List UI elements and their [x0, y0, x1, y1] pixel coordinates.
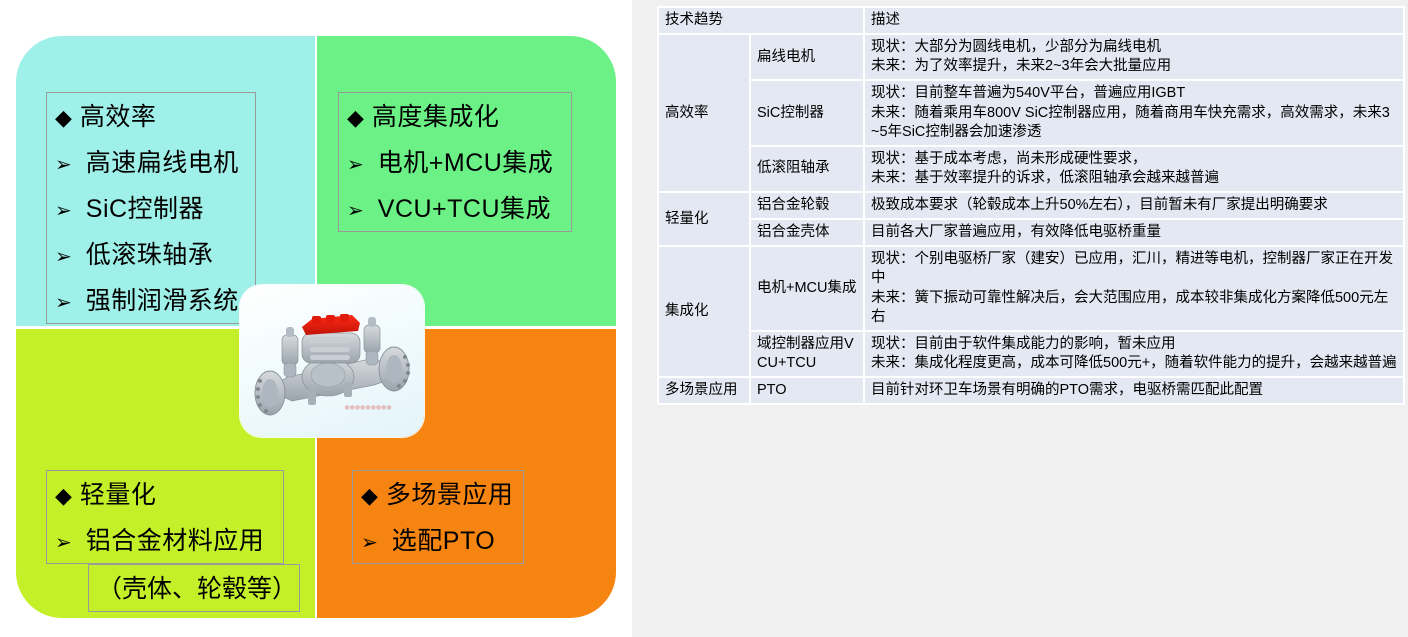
table-row: SiC控制器 现状：目前整车普遍为540V平台，普遍应用IGBT 未来：随着乘用…	[659, 81, 1403, 144]
list-item: ➢ 选配PTO	[361, 521, 515, 557]
subcategory-cell: 电机+MCU集成	[751, 247, 863, 330]
arrow-bullet-icon: ➢	[55, 292, 72, 312]
arrow-bullet-icon: ➢	[55, 246, 72, 266]
description-cell: 现状：目前整车普遍为540V平台，普遍应用IGBT 未来：随着乘用车800V S…	[865, 81, 1403, 144]
table-row: 多场景应用 PTO 目前针对环卫车场景有明确的PTO需求，电驱桥需匹配此配置	[659, 378, 1403, 403]
table-row: 集成化 电机+MCU集成 现状：个别电驱桥厂家（建安）已应用，汇川，精进等电机，…	[659, 247, 1403, 330]
list-item-label: 选配PTO	[392, 521, 495, 557]
list-item: ➢ 铝合金材料应用	[55, 521, 275, 557]
list-item-label: 低滚珠轴承	[86, 235, 214, 271]
diamond-bullet-icon: ◆	[55, 107, 72, 129]
table-header-row: 技术趋势 描述	[659, 8, 1403, 33]
quadrant-heading: 高度集成化	[372, 97, 500, 133]
description-cell: 极致成本要求（轮毂成本上升50%左右），目前暂未有厂家提出明确要求	[865, 193, 1403, 218]
lightweight-note-label: （壳体、轮毂等）	[97, 569, 291, 605]
arrow-bullet-icon: ➢	[347, 200, 364, 220]
heading-row: ◆ 轻量化	[55, 475, 275, 511]
diamond-bullet-icon: ◆	[347, 107, 364, 129]
arrow-bullet-icon: ➢	[55, 532, 72, 552]
list-item-label: 强制润滑系统	[86, 281, 239, 317]
subcategory-cell: PTO	[751, 378, 863, 403]
heading-row: ◆ 高效率	[55, 97, 247, 133]
quadrant-grid: ◆ 高效率 ➢ 高速扁线电机 ➢ SiC控制器 ➢ 低滚珠轴承 ➢ 强制润滑	[16, 36, 616, 618]
list-item-label: 电机+MCU集成	[378, 143, 554, 179]
subcategory-cell: 铝合金壳体	[751, 220, 863, 245]
list-item-label: 铝合金材料应用	[86, 521, 265, 557]
textbox-lightweight-note: （壳体、轮毂等）	[88, 564, 300, 612]
table-row: 轻量化 铝合金轮毂 极致成本要求（轮毂成本上升50%左右），目前暂未有厂家提出明…	[659, 193, 1403, 218]
list-item-label: SiC控制器	[86, 189, 204, 225]
description-cell: 目前各大厂家普遍应用，有效降低电驱桥重量	[865, 220, 1403, 245]
column-header-tech-trend: 技术趋势	[659, 8, 863, 33]
tech-trend-table-wrap: 技术趋势 描述 高效率 扁线电机 现状：大部分为圆线电机，少部分为扁线电机 未来…	[657, 6, 1405, 560]
quadrant-heading: 高效率	[80, 97, 157, 133]
page-root: ◆ 高效率 ➢ 高速扁线电机 ➢ SiC控制器 ➢ 低滚珠轴承 ➢ 强制润滑	[0, 0, 1408, 637]
arrow-bullet-icon: ➢	[347, 154, 364, 174]
textbox-high-efficiency: ◆ 高效率 ➢ 高速扁线电机 ➢ SiC控制器 ➢ 低滚珠轴承 ➢ 强制润滑	[46, 92, 256, 324]
category-cell: 多场景应用	[659, 378, 749, 403]
diamond-bullet-icon: ◆	[361, 485, 378, 507]
textbox-high-integration: ◆ 高度集成化 ➢ 电机+MCU集成 ➢ VCU+TCU集成	[338, 92, 572, 232]
arrow-bullet-icon: ➢	[361, 532, 378, 552]
list-item: ➢ 电机+MCU集成	[347, 143, 563, 179]
description-cell: 现状：目前由于软件集成能力的影响，暂未应用 未来：集成化程度更高，成本可降低50…	[865, 332, 1403, 376]
quadrant-heading: 多场景应用	[386, 475, 514, 511]
tech-trend-table: 技术趋势 描述 高效率 扁线电机 现状：大部分为圆线电机，少部分为扁线电机 未来…	[657, 6, 1405, 405]
description-cell: 目前针对环卫车场景有明确的PTO需求，电驱桥需匹配此配置	[865, 378, 1403, 403]
svg-text:●●●●●●●●●: ●●●●●●●●●	[344, 404, 391, 411]
list-item-label: VCU+TCU集成	[378, 189, 551, 225]
diamond-bullet-icon: ◆	[55, 485, 72, 507]
subcategory-cell: 低滚阻轴承	[751, 147, 863, 191]
axle-illustration-icon: ●●●●●●●●●	[240, 285, 424, 437]
textbox-lightweight: ◆ 轻量化 ➢ 铝合金材料应用	[46, 470, 284, 564]
table-row: 域控制器应用VCU+TCU 现状：目前由于软件集成能力的影响，暂未应用 未来：集…	[659, 332, 1403, 376]
table-row: 低滚阻轴承 现状：基于成本考虑，尚未形成硬性要求， 未来：基于效率提升的诉求，低…	[659, 147, 1403, 191]
column-header-description: 描述	[865, 8, 1403, 33]
table-row: 铝合金壳体 目前各大厂家普遍应用，有效降低电驱桥重量	[659, 220, 1403, 245]
description-cell: 现状：大部分为圆线电机，少部分为扁线电机 未来：为了效率提升，未来2~3年会大批…	[865, 35, 1403, 79]
category-cell: 集成化	[659, 247, 749, 376]
textbox-multi-scenario: ◆ 多场景应用 ➢ 选配PTO	[352, 470, 524, 564]
quadrant-slide: ◆ 高效率 ➢ 高速扁线电机 ➢ SiC控制器 ➢ 低滚珠轴承 ➢ 强制润滑	[0, 0, 632, 637]
subcategory-cell: 扁线电机	[751, 35, 863, 79]
list-item: ➢ 低滚珠轴承	[55, 235, 247, 271]
heading-row: ◆ 高度集成化	[347, 97, 563, 133]
list-item: ➢ VCU+TCU集成	[347, 189, 563, 225]
list-item: ➢ 高速扁线电机	[55, 143, 247, 179]
category-cell: 轻量化	[659, 193, 749, 245]
list-item: ➢ SiC控制器	[55, 189, 247, 225]
arrow-bullet-icon: ➢	[55, 154, 72, 174]
category-cell: 高效率	[659, 35, 749, 191]
electric-drive-axle-photo: ●●●●●●●●●	[240, 285, 424, 437]
list-item-label: 高速扁线电机	[86, 143, 239, 179]
subcategory-cell: 铝合金轮毂	[751, 193, 863, 218]
heading-row: ◆ 多场景应用	[361, 475, 515, 511]
subcategory-cell: SiC控制器	[751, 81, 863, 144]
subcategory-cell: 域控制器应用VCU+TCU	[751, 332, 863, 376]
table-row: 高效率 扁线电机 现状：大部分为圆线电机，少部分为扁线电机 未来：为了效率提升，…	[659, 35, 1403, 79]
description-cell: 现状：个别电驱桥厂家（建安）已应用，汇川，精进等电机，控制器厂家正在开发中 未来…	[865, 247, 1403, 330]
description-cell: 现状：基于成本考虑，尚未形成硬性要求， 未来：基于效率提升的诉求，低滚阻轴承会越…	[865, 147, 1403, 191]
list-item: ➢ 强制润滑系统	[55, 281, 247, 317]
arrow-bullet-icon: ➢	[55, 200, 72, 220]
quadrant-heading: 轻量化	[80, 475, 157, 511]
